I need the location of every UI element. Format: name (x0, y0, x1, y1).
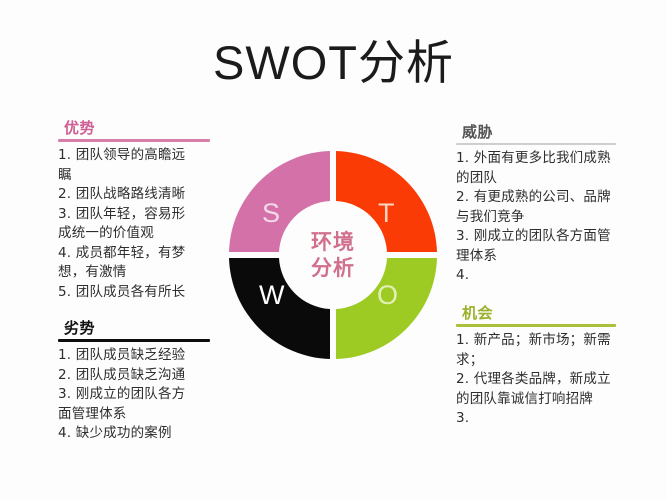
panel-weaknesses-rule (58, 339, 210, 342)
list-item: 2. 代理各类品牌，新成立 (456, 370, 616, 390)
page-title: SWOT分析 (0, 34, 667, 92)
list-item: 3. 团队年轻，容易形 (58, 205, 210, 225)
panel-weaknesses-list: 1. 团队成员缺乏经验 2. 团队成员缺乏沟通 3. 刚成立的团队各方 面管理体… (58, 346, 210, 444)
panel-opportunities-heading: 机会 (462, 303, 616, 323)
list-item: 2. 团队战略路线清晰 (58, 185, 210, 205)
panel-opportunities-list: 1. 新产品；新市场；新需 求； 2. 代理各类品牌，新成立 的团队靠诚信打响招… (456, 331, 616, 429)
list-item: 求； (456, 351, 616, 371)
panel-strengths-rule (58, 139, 210, 142)
list-item: 2. 有更成熟的公司、品牌 (456, 188, 616, 208)
panel-threats-list: 1. 外面有更多比我们成熟 的团队 2. 有更成熟的公司、品牌 与我们竞争 3.… (456, 149, 616, 286)
list-item: 1. 团队领导的高瞻远 (58, 146, 210, 166)
panel-strengths-heading: 优势 (64, 118, 210, 138)
list-item: 面管理体系 (58, 405, 210, 425)
swot-diagram-canvas: SWOT分析 优势 1. 团队领导的高瞻远 瞩 2. 团队战略路线清晰 3. 团… (0, 0, 667, 500)
list-item: 3. 刚成立的团队各方面管 (456, 227, 616, 247)
list-item: 2. 团队成员缺乏沟通 (58, 366, 210, 386)
donut-center-label: 环境 分析 (288, 229, 378, 281)
panel-threats-heading: 威胁 (462, 122, 616, 142)
list-item: 3. 刚成立的团队各方 (58, 385, 210, 405)
list-item: 1. 新产品；新市场；新需 (456, 331, 616, 351)
list-item: 4. (456, 266, 616, 286)
panel-threats-rule (456, 143, 616, 145)
panel-opportunities-rule (456, 324, 616, 327)
list-item: 1. 外面有更多比我们成熟 (456, 149, 616, 169)
panel-opportunities: 机会 1. 新产品；新市场；新需 求； 2. 代理各类品牌，新成立 的团队靠诚信… (456, 303, 616, 429)
list-item: 4. 缺少成功的案例 (58, 424, 210, 444)
list-item: 理体系 (456, 247, 616, 267)
list-item: 成统一的价值观 (58, 224, 210, 244)
panel-weaknesses: 劣势 1. 团队成员缺乏经验 2. 团队成员缺乏沟通 3. 刚成立的团队各方 面… (58, 318, 210, 444)
panel-threats: 威胁 1. 外面有更多比我们成熟 的团队 2. 有更成熟的公司、品牌 与我们竞争… (456, 122, 616, 286)
panel-strengths: 优势 1. 团队领导的高瞻远 瞩 2. 团队战略路线清晰 3. 团队年轻，容易形… (58, 118, 210, 302)
panel-weaknesses-heading: 劣势 (64, 318, 210, 338)
list-item: 想，有激情 (58, 263, 210, 283)
list-item: 1. 团队成员缺乏经验 (58, 346, 210, 366)
list-item: 的团队靠诚信打响招牌 (456, 390, 616, 410)
list-item: 5. 团队成员各有所长 (58, 283, 210, 303)
list-item: 的团队 (456, 169, 616, 189)
list-item: 瞩 (58, 166, 210, 186)
swot-donut-chart: S T W O 环境 分析 (226, 148, 440, 362)
list-item: 3. (456, 409, 616, 429)
list-item: 4. 成员都年轻，有梦 (58, 244, 210, 264)
list-item: 与我们竞争 (456, 208, 616, 228)
donut-center-line-2: 分析 (288, 255, 378, 281)
donut-center-line-1: 环境 (288, 229, 378, 255)
panel-strengths-list: 1. 团队领导的高瞻远 瞩 2. 团队战略路线清晰 3. 团队年轻，容易形 成统… (58, 146, 210, 302)
